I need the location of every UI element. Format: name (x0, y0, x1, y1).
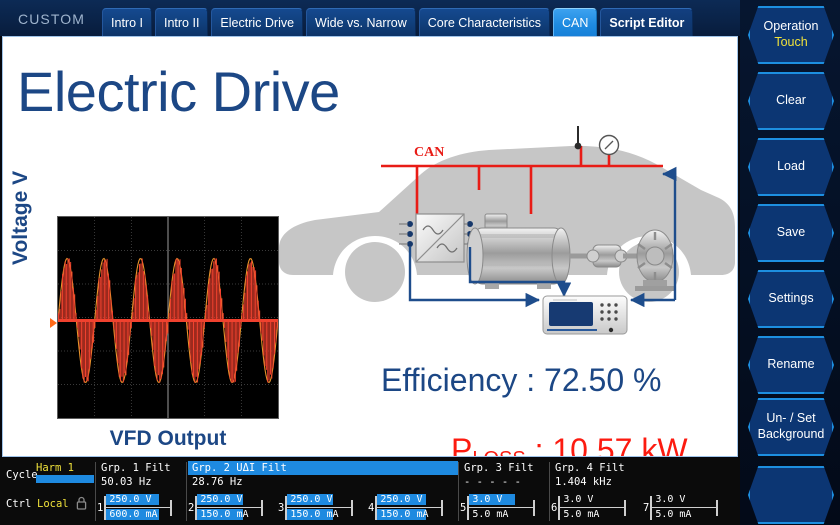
status-separator (549, 462, 550, 521)
ctrl-value[interactable]: Local (37, 498, 69, 510)
scope-caption: VFD Output (57, 427, 279, 451)
voltage-value: 250.0 V (377, 494, 441, 505)
current-value: 600.0 mA (106, 509, 170, 520)
tab-intro-i[interactable]: Intro I (102, 8, 152, 36)
channel-scale-line (652, 507, 716, 508)
current-value: 150.0 mA (377, 509, 441, 520)
measurement-group[interactable]: Grp. 2 UΔI Filt28.76 Hz2250.0 V150.0 mA3… (188, 460, 458, 523)
softkey-un-set-background[interactable]: Un- / SetBackground (748, 398, 834, 456)
ploss-separator: : (526, 432, 553, 457)
softkey-label: Save (777, 225, 806, 241)
tab-label: Script Editor (609, 16, 684, 30)
softkey-empty-7 (748, 466, 834, 524)
tab-script-editor[interactable]: Script Editor (600, 8, 693, 36)
tab-wide-vs-narrow[interactable]: Wide vs. Narrow (306, 8, 416, 36)
softkey-operation[interactable]: OperationTouch (748, 6, 834, 64)
channel-body: 250.0 V150.0 mA (197, 494, 261, 522)
channel-body: 3.0 V5.0 mA (469, 494, 533, 522)
softkey-label: Un- / Set (766, 411, 815, 427)
tab-label: Intro I (111, 16, 143, 30)
tab-label: Core Characteristics (428, 16, 541, 30)
tab-bar: CUSTOM Intro IIntro IIElectric DriveWide… (0, 0, 740, 36)
softkey-label: Rename (767, 357, 814, 373)
channel-readout[interactable]: 1250.0 V600.0 mA (97, 492, 172, 523)
current-value: 5.0 mA (560, 509, 624, 520)
trigger-marker-icon (50, 318, 57, 328)
tab-label: Electric Drive (220, 16, 294, 30)
group-frequency: 28.76 Hz (192, 476, 243, 488)
measurement-group[interactable]: Grp. 3 Filt- - - - -53.0 V5.0 mA (460, 460, 548, 523)
voltage-value: 250.0 V (197, 494, 261, 505)
voltage-value: 3.0 V (469, 494, 533, 505)
channel-endcap (441, 500, 443, 516)
channel-readout[interactable]: 73.0 V5.0 mA (643, 492, 718, 523)
power-analyzer (543, 296, 627, 334)
lock-icon[interactable] (76, 496, 87, 513)
softkey-label: Clear (776, 93, 806, 109)
channel-scale-line (106, 507, 170, 508)
softkey-label: Settings (768, 291, 813, 307)
application-window: CUSTOM Intro IIntro IIElectric DriveWide… (0, 0, 840, 525)
scope-panel: Voltage V VFD Output (21, 213, 301, 457)
group-title: Grp. 1 Filt (101, 462, 171, 474)
measurement-group[interactable]: Grp. 1 Filt50.03 Hz1250.0 V600.0 mA (97, 460, 185, 523)
ploss-symbol: P (451, 432, 472, 457)
voltage-value: 3.0 V (652, 494, 716, 505)
efficiency-readout: Efficiency : 72.50 % (381, 362, 661, 399)
softkey-label: Background (758, 427, 825, 443)
channel-endcap (533, 500, 535, 516)
group-title: Grp. 3 Filt (464, 462, 534, 474)
channel-body: 3.0 V5.0 mA (652, 494, 716, 522)
status-separator (186, 462, 187, 521)
ploss-subscript: LOSS (472, 448, 525, 457)
voltage-value: 250.0 V (287, 494, 351, 505)
current-value: 150.0 mA (197, 509, 261, 520)
voltage-value: 250.0 V (106, 494, 170, 505)
channel-endcap (716, 500, 718, 516)
tab-label: Intro II (164, 16, 199, 30)
softkey-sublabel: Touch (774, 35, 807, 51)
channel-number: 7 (643, 502, 650, 514)
measurement-group[interactable]: Grp. 4 Filt1.404 kHz63.0 V5.0 mA73.0 V5.… (551, 460, 737, 523)
group-frequency: - - - - - (464, 476, 521, 488)
custom-label: CUSTOM (8, 11, 99, 36)
cycle-value[interactable]: Harm 1 (36, 462, 74, 474)
oscilloscope-display[interactable] (57, 216, 279, 419)
softkey-clear[interactable]: Clear (748, 72, 834, 130)
channel-number: 2 (188, 502, 195, 514)
channel-number: 4 (368, 502, 375, 514)
current-value: 150.0 mA (287, 509, 351, 520)
channel-body: 3.0 V5.0 mA (560, 494, 624, 522)
channel-scale-line (287, 507, 351, 508)
channel-scale-line (560, 507, 624, 508)
status-separator (458, 462, 459, 521)
can-label: CAN (414, 145, 444, 160)
group-title: Grp. 2 UΔI Filt (188, 461, 458, 475)
channel-scale-line (197, 507, 261, 508)
status-bar: Cycle Harm 1 Ctrl Local Grp. 1 Filt50.03… (0, 458, 740, 525)
channel-endcap (170, 500, 172, 516)
efficiency-label: Efficiency : (381, 362, 544, 398)
current-value: 5.0 mA (469, 509, 533, 520)
softkey-rename[interactable]: Rename (748, 336, 834, 394)
ploss-value: 10.57 kW (552, 432, 687, 457)
softkey-settings[interactable]: Settings (748, 270, 834, 328)
tab-can[interactable]: CAN (553, 8, 597, 36)
channel-readout[interactable]: 3250.0 V150.0 mA (278, 492, 353, 523)
tab-list: Intro IIntro IIElectric DriveWide vs. Na… (102, 8, 693, 36)
status-separator (95, 462, 96, 521)
voltage-value: 3.0 V (560, 494, 624, 505)
channel-scale-line (469, 507, 533, 508)
group-frequency: 1.404 kHz (555, 476, 612, 488)
tab-intro-ii[interactable]: Intro II (155, 8, 208, 36)
power-loss-readout: PLOSS : 10.57 kW (451, 432, 688, 457)
channel-endcap (624, 500, 626, 516)
current-value: 5.0 mA (652, 509, 716, 520)
softkey-save[interactable]: Save (748, 204, 834, 262)
tab-label: Wide vs. Narrow (315, 16, 407, 30)
channel-scale-line (377, 507, 441, 508)
scope-y-axis-label: Voltage V (9, 171, 33, 265)
channel-readout[interactable]: 53.0 V5.0 mA (460, 492, 535, 523)
tab-label: CAN (562, 16, 588, 30)
group-frequency: 50.03 Hz (101, 476, 152, 488)
channel-body: 250.0 V600.0 mA (106, 494, 170, 522)
softkey-label: Load (777, 159, 805, 175)
tab-electric-drive[interactable]: Electric Drive (211, 8, 303, 36)
soft-key-sidebar: OperationTouchClearLoadSaveSettingsRenam… (740, 0, 840, 525)
status-left-block: Cycle Harm 1 Ctrl Local (4, 460, 96, 523)
tab-core-characteristics[interactable]: Core Characteristics (419, 8, 550, 36)
efficiency-value: 72.50 % (544, 362, 661, 398)
channel-body: 250.0 V150.0 mA (377, 494, 441, 522)
channel-endcap (351, 500, 353, 516)
cycle-bar-indicator (36, 475, 94, 483)
channel-number: 1 (97, 502, 104, 514)
channel-number: 5 (460, 502, 467, 514)
channel-number: 6 (551, 502, 558, 514)
ctrl-label: Ctrl (6, 498, 31, 510)
channel-readout[interactable]: 2250.0 V150.0 mA (188, 492, 263, 523)
softkey-load[interactable]: Load (748, 138, 834, 196)
group-title: Grp. 4 Filt (555, 462, 625, 474)
electric-drive-diagram: CAN (271, 112, 738, 337)
channel-readout[interactable]: 4250.0 V150.0 mA (368, 492, 443, 523)
channel-endcap (261, 500, 263, 516)
channel-readout[interactable]: 63.0 V5.0 mA (551, 492, 626, 523)
channel-number: 3 (278, 502, 285, 514)
channel-body: 250.0 V150.0 mA (287, 494, 351, 522)
main-canvas: Electric Drive (2, 36, 738, 457)
cycle-label: Cycle (6, 469, 38, 481)
softkey-label: Operation (764, 19, 819, 35)
